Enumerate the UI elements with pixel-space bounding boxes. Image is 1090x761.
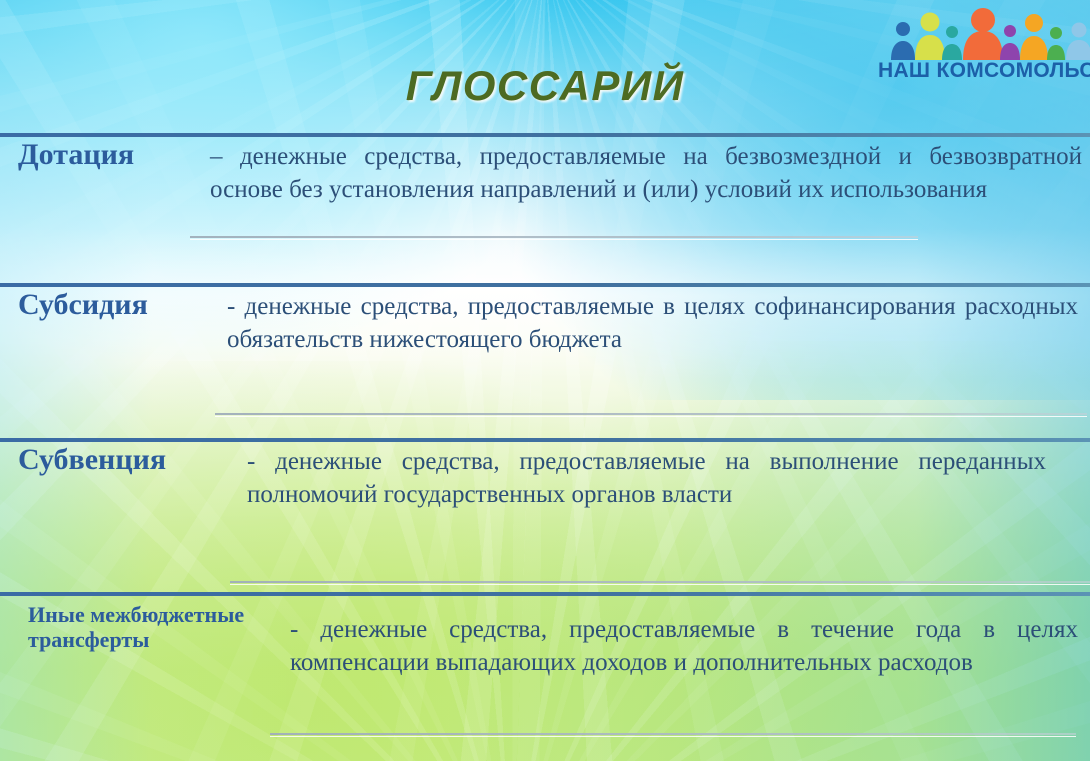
glossary-entry: Субсидия - денежные средства, предоставл…	[0, 288, 1090, 356]
glossary-definition: – денежные средства, предоставляемые на …	[210, 138, 1090, 206]
glossary-entry: Субвенция - денежные средства, предостав…	[0, 443, 1090, 511]
people-group-icon	[886, 8, 1090, 60]
glossary-term: Субсидия	[0, 288, 215, 322]
glossary-slide: НАШ КОМСОМОЛЬСК ГЛОССАРИЙ Дотация – дене…	[0, 0, 1090, 761]
glossary-definition: - денежные средства, предоставляемые в т…	[268, 596, 1090, 679]
glossary-term: Субвенция	[0, 443, 230, 477]
divider-thick-3	[0, 438, 1090, 442]
divider-thin-4	[270, 733, 1076, 737]
divider-thin-2	[215, 413, 1087, 417]
glossary-definition: - денежные средства, предоставляемые на …	[230, 443, 1090, 511]
glossary-entry: Дотация – денежные средства, предоставля…	[0, 138, 1090, 206]
glossary-entry: Иные межбюджетные трансферты - денежные …	[0, 596, 1090, 679]
page-title: ГЛОССАРИЙ	[0, 62, 1090, 110]
glossary-term: Дотация	[0, 138, 210, 172]
glossary-term: Иные межбюджетные трансферты	[0, 596, 268, 652]
divider-thick-2	[0, 283, 1090, 287]
divider-thin-1	[190, 236, 918, 240]
divider-thick-1	[0, 133, 1090, 137]
glossary-definition: - денежные средства, предоставляемые в ц…	[215, 288, 1090, 356]
divider-thin-3	[230, 581, 1090, 585]
